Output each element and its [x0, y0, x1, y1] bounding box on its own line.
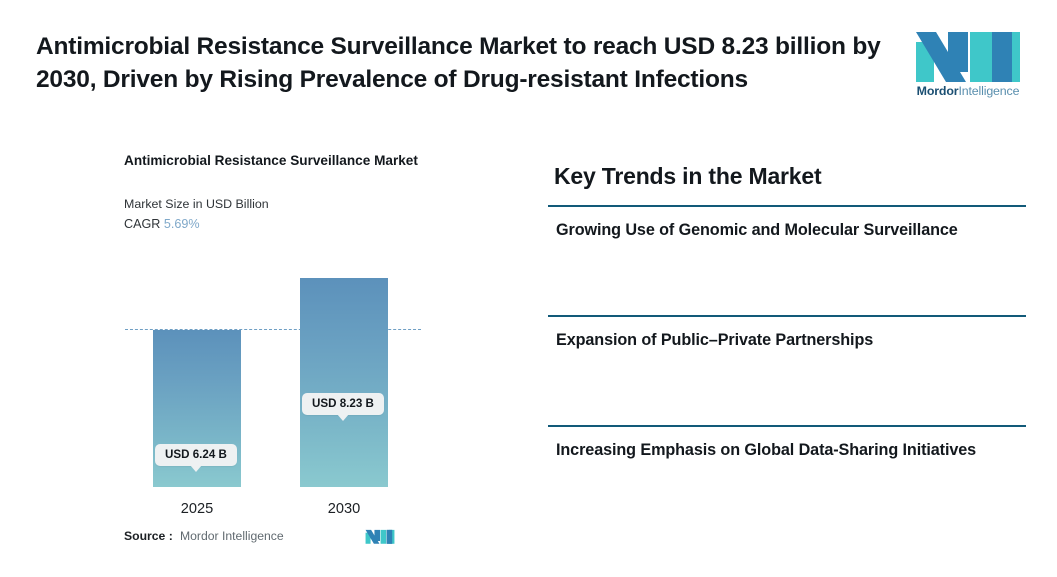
trend-item-label: Increasing Emphasis on Global Data-Shari…: [556, 439, 1008, 462]
trend-item-0[interactable]: Growing Use of Genomic and Molecular Sur…: [548, 205, 1026, 315]
brand-logo: MordorIntelligence: [908, 26, 1028, 108]
x-axis-tick-2030: 2030: [289, 501, 399, 517]
bar-chart-plot-area: USD 6.24 B USD 8.23 B 2025 2030: [0, 140, 520, 560]
trend-item-1[interactable]: Expansion of Public–Private Partnerships: [548, 315, 1026, 425]
brand-word-mordor: Mordor: [917, 84, 959, 98]
mordor-intelligence-logo-icon: [914, 26, 1022, 82]
key-trends-panel: Key Trends in the Market Growing Use of …: [548, 155, 1026, 555]
brand-wordmark: MordorIntelligence: [908, 84, 1028, 98]
x-axis-tick-2025: 2025: [142, 501, 252, 517]
page-title: Antimicrobial Resistance Surveillance Ma…: [36, 31, 896, 97]
bar-2030[interactable]: [300, 278, 388, 487]
trend-item-label: Growing Use of Genomic and Molecular Sur…: [556, 219, 1008, 242]
brand-word-intelligence: Intelligence: [958, 84, 1019, 98]
chart-source: Source : Mordor Intelligence: [124, 526, 414, 548]
trend-divider: [548, 205, 1026, 207]
source-label: Source :: [124, 529, 173, 543]
bar-value-label-2030: USD 8.23 B: [302, 393, 384, 415]
source-value: Mordor Intelligence: [180, 529, 284, 543]
mordor-intelligence-small-logo-icon: [365, 527, 395, 545]
key-trends-heading: Key Trends in the Market: [554, 163, 821, 190]
bar-value-label-2025: USD 6.24 B: [155, 444, 237, 466]
market-size-chart-panel: Antimicrobial Resistance Surveillance Ma…: [0, 140, 520, 560]
trend-divider: [548, 315, 1026, 317]
trend-item-label: Expansion of Public–Private Partnerships: [556, 329, 1008, 352]
page-header: Antimicrobial Resistance Surveillance Ma…: [0, 0, 1057, 120]
trend-divider: [548, 425, 1026, 427]
trend-item-2[interactable]: Increasing Emphasis on Global Data-Shari…: [548, 425, 1026, 545]
